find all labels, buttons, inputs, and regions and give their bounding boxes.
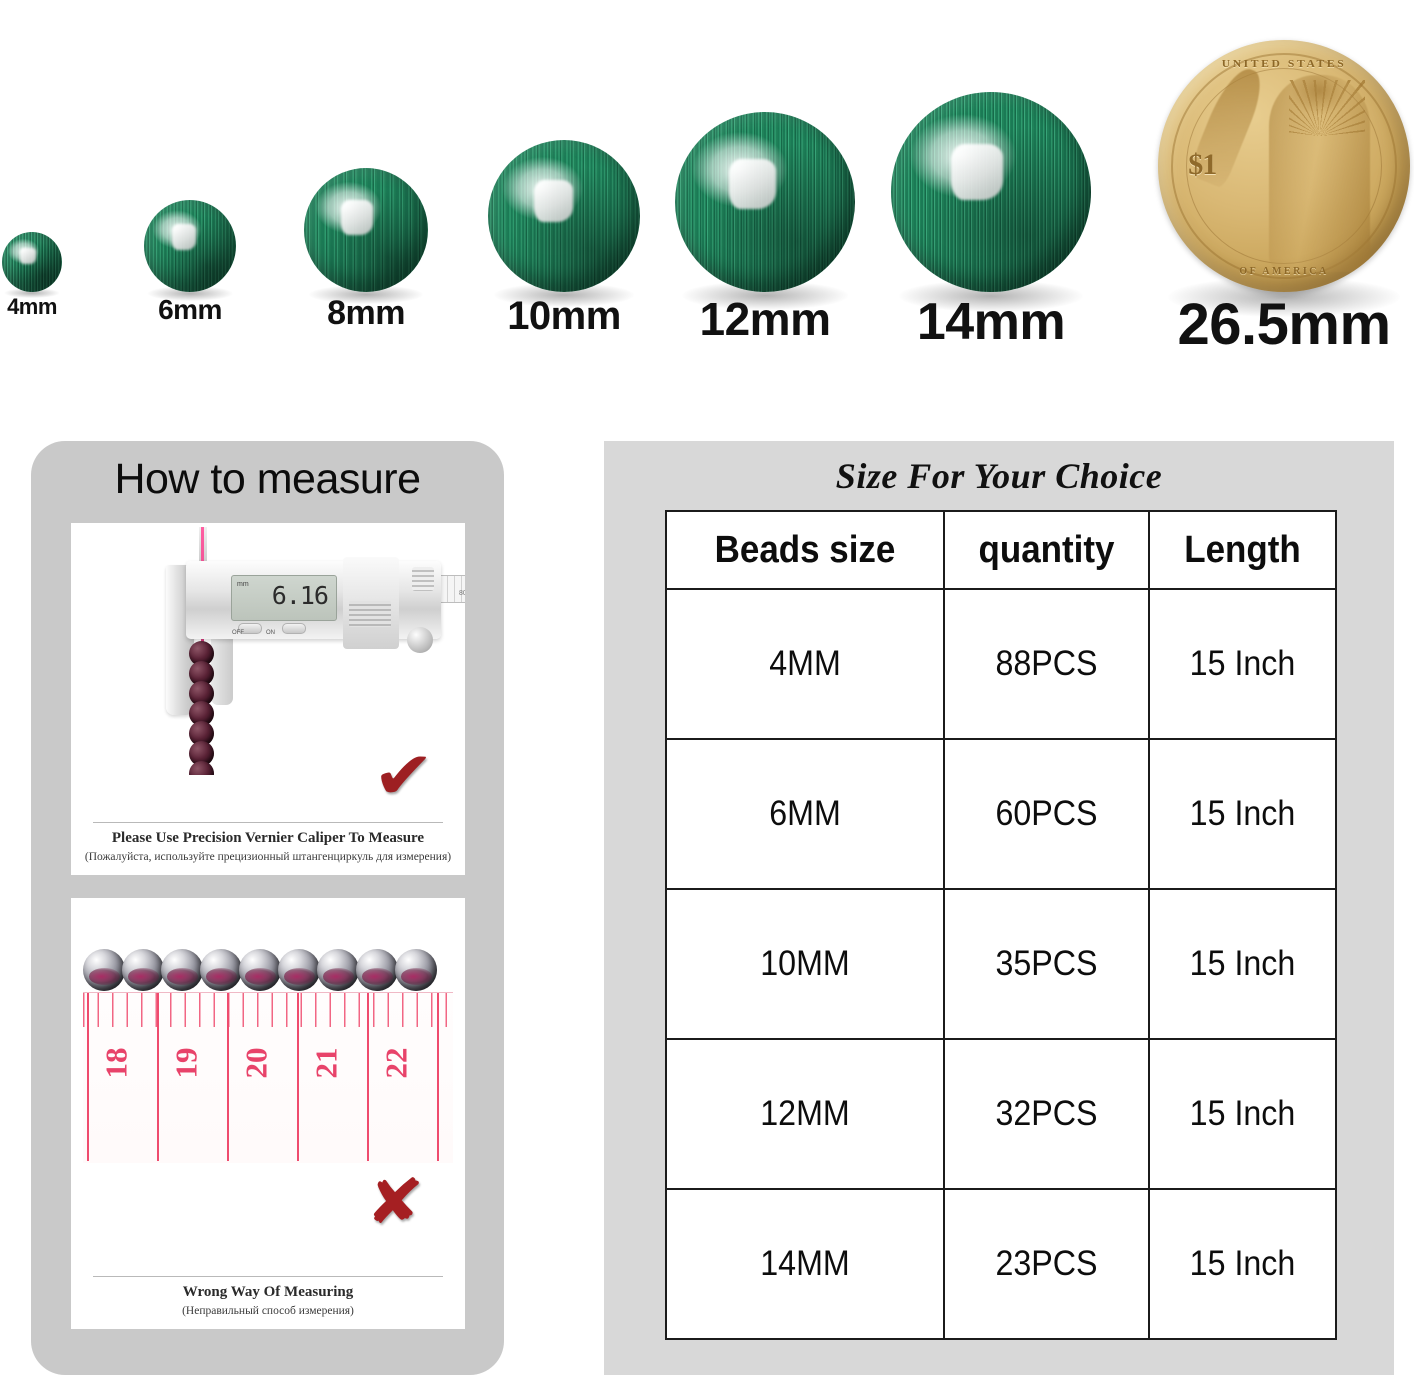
caliper-thumb-roller — [412, 567, 434, 591]
caliper-zero-button[interactable] — [282, 623, 306, 634]
tape-number: 20 — [239, 1048, 275, 1079]
bead-size-label: 6mm — [158, 296, 222, 324]
caliper-lock-screw — [407, 627, 433, 653]
header-length: Length — [1156, 511, 1328, 589]
caliper-reading: 6.16 — [272, 583, 328, 608]
tape-number: 21 — [309, 1048, 345, 1079]
cell-beads-size: 6MM — [677, 739, 933, 889]
table-row: 14MM23PCS15 Inch — [666, 1189, 1336, 1339]
header-quantity: quantity — [952, 511, 1141, 589]
correct-caption-en: Please Use Precision Vernier Caliper To … — [71, 828, 465, 849]
malachite-bead — [675, 112, 855, 292]
how-to-measure-panel: How to measure 0 60 80 — [31, 441, 504, 1375]
tape-number: 19 — [169, 1048, 205, 1079]
wrong-caption-ru: (Неправильный способ измерения) — [71, 1303, 465, 1319]
caliper-slider — [343, 557, 399, 649]
bead-highlight — [951, 144, 1003, 200]
wrong-caption-en: Wrong Way Of Measuring — [71, 1282, 465, 1303]
checkmark-icon: ✔ — [372, 743, 434, 809]
cell-quantity: 35PCS — [952, 889, 1141, 1039]
tape-tick-marks — [83, 993, 453, 1027]
tape-measure-strip: 18 19 20 21 22 — [83, 992, 453, 1163]
bead-highlight — [729, 159, 776, 209]
cross-icon: ✘ — [365, 1171, 425, 1233]
cell-length: 15 Inch — [1156, 889, 1328, 1039]
caliper-lcd-screen: mm 6.16 — [231, 575, 337, 621]
bead-strand — [189, 641, 215, 775]
coin-legend-top: UNITED STATES — [1158, 58, 1410, 70]
wrong-method-card: 18 19 20 21 22 ✘ Wrong Way Of Measuring … — [71, 898, 465, 1329]
bead-size-label: 12mm — [700, 296, 831, 342]
bead-sample: 12mm — [635, 0, 895, 352]
caliper-on-label: ON — [266, 630, 275, 636]
bead-size-label: 4mm — [7, 296, 57, 318]
bead-size-comparison-row: 4mm6mm8mm10mm12mm14mm$1UNITED STATESOF A… — [0, 0, 1414, 352]
cell-quantity: 32PCS — [952, 1039, 1141, 1189]
malachite-bead — [304, 168, 428, 292]
tape-number: 22 — [379, 1048, 415, 1079]
coin-face: $1UNITED STATESOF AMERICA — [1158, 40, 1410, 292]
size-table: Beads size quantity Length 4MM88PCS15 In… — [665, 510, 1337, 1340]
tape-measure-illustration: 18 19 20 21 22 — [83, 948, 453, 1168]
caliper-knurled-grip — [349, 601, 391, 627]
bead-highlight — [172, 224, 196, 250]
malachite-bead — [2, 232, 62, 292]
header-beads-size: Beads size — [677, 511, 933, 589]
size-for-your-choice-panel: Size For Your Choice Beads size quantity… — [604, 441, 1394, 1375]
wrong-caption-divider — [93, 1276, 443, 1277]
cell-beads-size: 10MM — [677, 889, 933, 1039]
bead-highlight — [534, 180, 574, 223]
caliper-off-label: OFF — [232, 630, 244, 636]
table-row: 4MM88PCS15 Inch — [666, 589, 1336, 739]
table-row: 10MM35PCS15 Inch — [666, 889, 1336, 1039]
bead-size-label: 8mm — [327, 296, 405, 330]
cell-length: 15 Inch — [1156, 1039, 1328, 1189]
bead-size-label: 14mm — [917, 296, 1065, 348]
cell-beads-size: 12MM — [677, 1039, 933, 1189]
coin-sample: $1UNITED STATESOF AMERICA26.5mm — [1154, 0, 1414, 352]
dollar-coin: $1UNITED STATESOF AMERICA — [1158, 40, 1410, 292]
correct-method-card: 0 60 80 mm 6.16 OFF ON ✔ — [71, 523, 465, 875]
size-table-title: Size For Your Choice — [604, 455, 1394, 497]
correct-caption-block: Please Use Precision Vernier Caliper To … — [71, 828, 465, 865]
bead-highlight — [20, 248, 36, 265]
wrong-caption-block: Wrong Way Of Measuring (Неправильный спо… — [71, 1282, 465, 1319]
caliper-unit-label: mm — [237, 581, 249, 588]
bead-size-label: 26.5mm — [1177, 296, 1390, 354]
table-row: 6MM60PCS15 Inch — [666, 739, 1336, 889]
cell-beads-size: 14MM — [677, 1189, 933, 1339]
statue-of-liberty-icon — [1269, 75, 1370, 272]
table-row: 12MM32PCS15 Inch — [666, 1039, 1336, 1189]
correct-caption-divider — [93, 822, 443, 823]
cell-quantity: 88PCS — [952, 589, 1141, 739]
tape-number: 18 — [99, 1048, 135, 1079]
bead-sample: 14mm — [861, 0, 1121, 352]
malachite-bead — [891, 92, 1091, 292]
malachite-bead — [144, 200, 236, 292]
steel-bead-strand — [83, 948, 453, 992]
correct-caption-ru: (Пожалуйста, используйте прецизионный шт… — [71, 849, 465, 865]
cell-quantity: 60PCS — [952, 739, 1141, 889]
caliper-body: mm 6.16 OFF ON — [186, 561, 441, 639]
cell-beads-size: 4MM — [677, 589, 933, 739]
cell-quantity: 23PCS — [952, 1189, 1141, 1339]
table-header-row: Beads size quantity Length — [666, 511, 1336, 589]
cell-length: 15 Inch — [1156, 1189, 1328, 1339]
cell-length: 15 Inch — [1156, 739, 1328, 889]
coin-legend-bottom: OF AMERICA — [1158, 266, 1410, 277]
malachite-bead — [488, 140, 640, 292]
bead-size-label: 10mm — [507, 296, 621, 336]
cell-length: 15 Inch — [1156, 589, 1328, 739]
bead-highlight — [341, 200, 373, 235]
coin-denomination: $1 — [1188, 148, 1216, 182]
how-to-measure-title: How to measure — [31, 455, 504, 504]
